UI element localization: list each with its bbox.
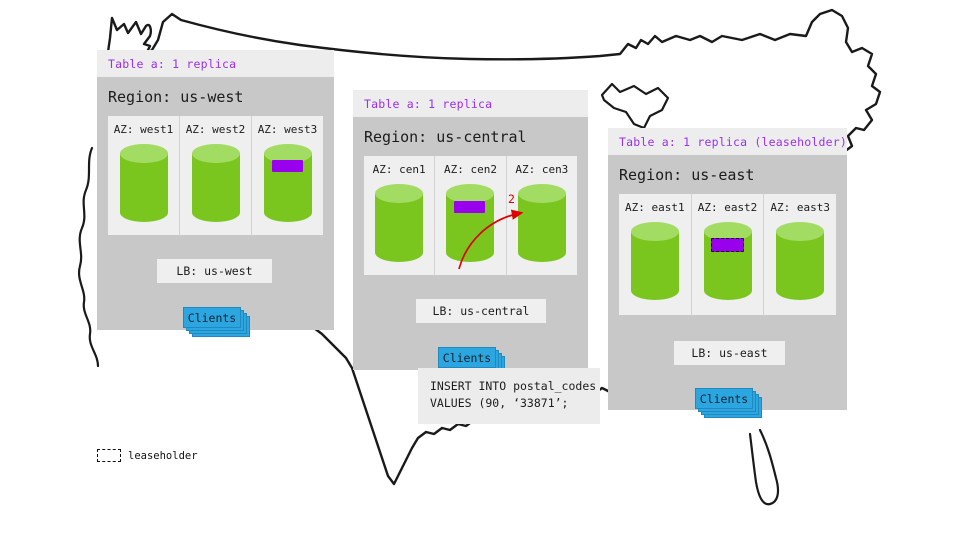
florida-path	[750, 430, 778, 504]
sql-statement-note: INSERT INTO postal_codes VALUES (90, ‘33…	[418, 368, 600, 424]
node-cylinder-east1[interactable]	[631, 222, 679, 300]
replica-note-us-east: Table a: 1 replica (leaseholder)	[608, 128, 847, 155]
map-detail-path	[79, 148, 98, 366]
load-balancer-us-west[interactable]: LB: us-west	[157, 259, 272, 283]
cylinder-body	[192, 154, 240, 222]
az-label-west1: AZ: west1	[114, 123, 174, 136]
az-cell-east1[interactable]: AZ: east1	[619, 194, 692, 315]
load-balancer-us-central[interactable]: LB: us-central	[416, 299, 546, 323]
clients-stack-us-west[interactable]: Clients	[183, 307, 249, 335]
routing-arrow-label: 2	[508, 192, 515, 206]
region-title-us-central: Region: us-central	[353, 117, 588, 156]
cylinder-top	[776, 222, 824, 241]
az-label-east1: AZ: east1	[625, 201, 685, 214]
leaseholder-replica-chip	[711, 238, 744, 252]
az-cell-cen3[interactable]: AZ: cen3	[507, 156, 577, 275]
az-cell-cen1[interactable]: AZ: cen1	[364, 156, 435, 275]
az-label-cen2: AZ: cen2	[444, 163, 497, 176]
az-row-us-east: AZ: east1 AZ: east2 AZ: east3	[619, 194, 836, 315]
az-label-east3: AZ: east3	[770, 201, 830, 214]
node-cylinder-cen1[interactable]	[375, 184, 423, 262]
az-label-cen1: AZ: cen1	[373, 163, 426, 176]
cylinder-body	[631, 232, 679, 300]
cylinder-body	[518, 194, 566, 262]
node-cylinder-cen2[interactable]	[446, 184, 494, 262]
region-panel-us-central: Table a: 1 replica Region: us-central AZ…	[353, 90, 588, 370]
cylinder-body	[776, 232, 824, 300]
clients-stack-us-east[interactable]: Clients	[695, 388, 761, 416]
az-cell-west3[interactable]: AZ: west3	[252, 116, 323, 235]
az-label-east2: AZ: east2	[698, 201, 758, 214]
clients-button-us-east[interactable]: Clients	[695, 388, 753, 409]
load-balancer-us-east[interactable]: LB: us-east	[674, 341, 785, 365]
cylinder-body	[120, 154, 168, 222]
legend-label: leaseholder	[128, 450, 198, 462]
node-cylinder-west2[interactable]	[192, 144, 240, 222]
az-cell-west2[interactable]: AZ: west2	[180, 116, 252, 235]
az-label-west3: AZ: west3	[258, 123, 318, 136]
region-title-us-east: Region: us-east	[608, 155, 847, 194]
node-cylinder-east2[interactable]	[704, 222, 752, 300]
legend: leaseholder	[97, 449, 198, 462]
range-replica-chip	[272, 160, 303, 172]
az-cell-east2[interactable]: AZ: east2	[692, 194, 765, 315]
region-body-us-west: Region: us-west AZ: west1 AZ: west2	[97, 77, 334, 330]
cylinder-top	[192, 144, 240, 163]
node-cylinder-west3[interactable]	[264, 144, 312, 222]
range-replica-chip	[454, 201, 485, 213]
dashed-rectangle-icon	[97, 449, 121, 462]
replica-note-us-west: Table a: 1 replica	[97, 50, 334, 77]
region-title-us-west: Region: us-west	[97, 77, 334, 116]
az-label-cen3: AZ: cen3	[515, 163, 568, 176]
region-panel-us-east: Table a: 1 replica (leaseholder) Region:…	[608, 128, 847, 410]
cylinder-top	[518, 184, 566, 203]
az-cell-cen2[interactable]: AZ: cen2	[435, 156, 506, 275]
clients-button-us-central[interactable]: Clients	[438, 347, 496, 368]
az-cell-west1[interactable]: AZ: west1	[108, 116, 180, 235]
region-panel-us-west: Table a: 1 replica Region: us-west AZ: w…	[97, 50, 334, 330]
clients-button-us-west[interactable]: Clients	[183, 307, 241, 328]
node-cylinder-east3[interactable]	[776, 222, 824, 300]
cylinder-top	[375, 184, 423, 203]
az-label-west2: AZ: west2	[186, 123, 246, 136]
diagram-canvas: Table a: 1 replica Region: us-west AZ: w…	[0, 0, 960, 540]
az-row-us-central: AZ: cen1 AZ: cen2 AZ: cen3	[364, 156, 577, 275]
region-body-us-central: Region: us-central AZ: cen1 AZ: cen2	[353, 117, 588, 370]
cylinder-body	[375, 194, 423, 262]
region-body-us-east: Region: us-east AZ: east1 AZ: east2	[608, 155, 847, 410]
node-cylinder-cen3[interactable]	[518, 184, 566, 262]
cylinder-top	[631, 222, 679, 241]
az-row-us-west: AZ: west1 AZ: west2 AZ: west3	[108, 116, 323, 235]
replica-note-us-central: Table a: 1 replica	[353, 90, 588, 117]
az-cell-east3[interactable]: AZ: east3	[764, 194, 836, 315]
node-cylinder-west1[interactable]	[120, 144, 168, 222]
cylinder-top	[120, 144, 168, 163]
great-lakes-path	[602, 84, 668, 128]
